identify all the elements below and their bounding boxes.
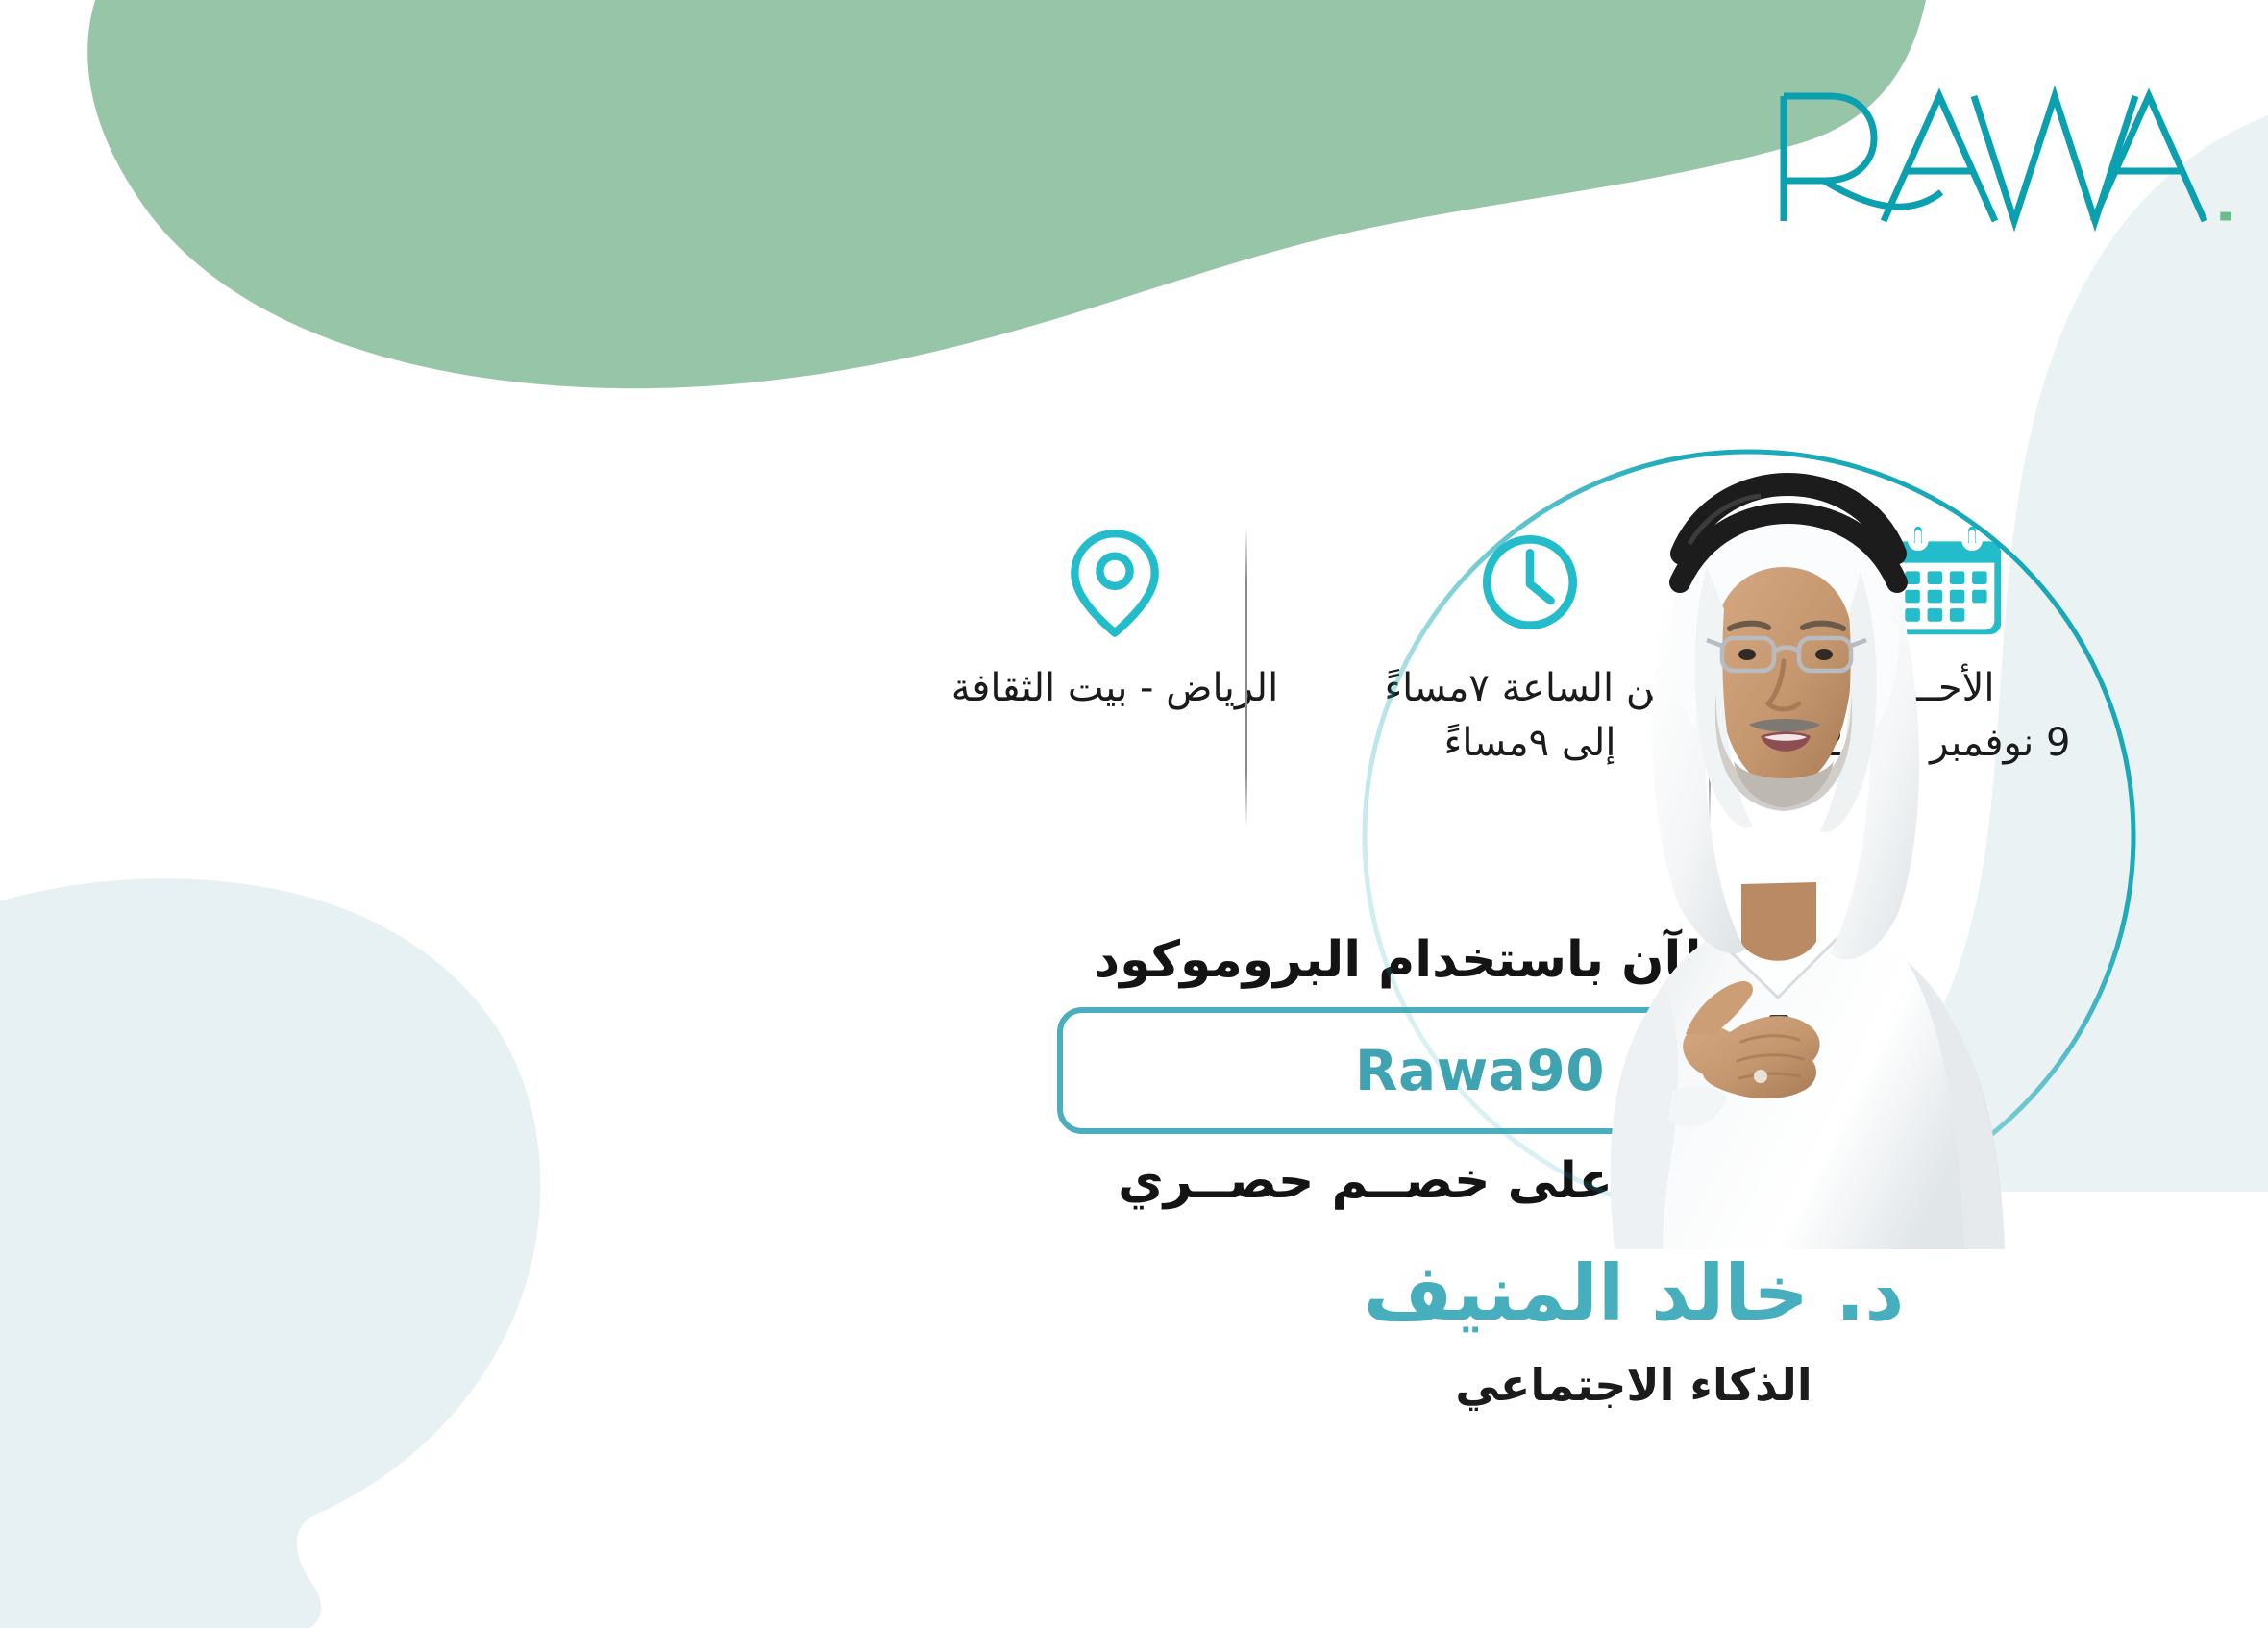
speaker-topic: الذكاء الاجتماعي [1153,1359,2114,1411]
info-cell-location: الرياض - بيت الثقافة [907,519,1322,716]
bottom-left-pale-shape [0,878,540,1628]
logo-talks-text: TALKS [2220,200,2231,259]
rawa-talks-logo: TALKS [1770,67,2231,259]
speaker-name: د. خالد المنيف [1153,1249,2114,1338]
location-pin-icon [1064,519,1166,646]
speaker-portrait-container [1326,404,2172,1249]
speaker-name-block: د. خالد المنيف الذكاء الاجتماعي [1153,1249,2114,1411]
speaker-photo [1326,404,2172,1249]
logo-rawa-wordmark [1784,96,2205,221]
info-divider-2 [1245,527,1247,826]
event-poster: TALKS [0,0,2268,1628]
info-location-text: الرياض - بيت الثقافة [951,661,1278,716]
green-blob-shape [87,0,1932,388]
